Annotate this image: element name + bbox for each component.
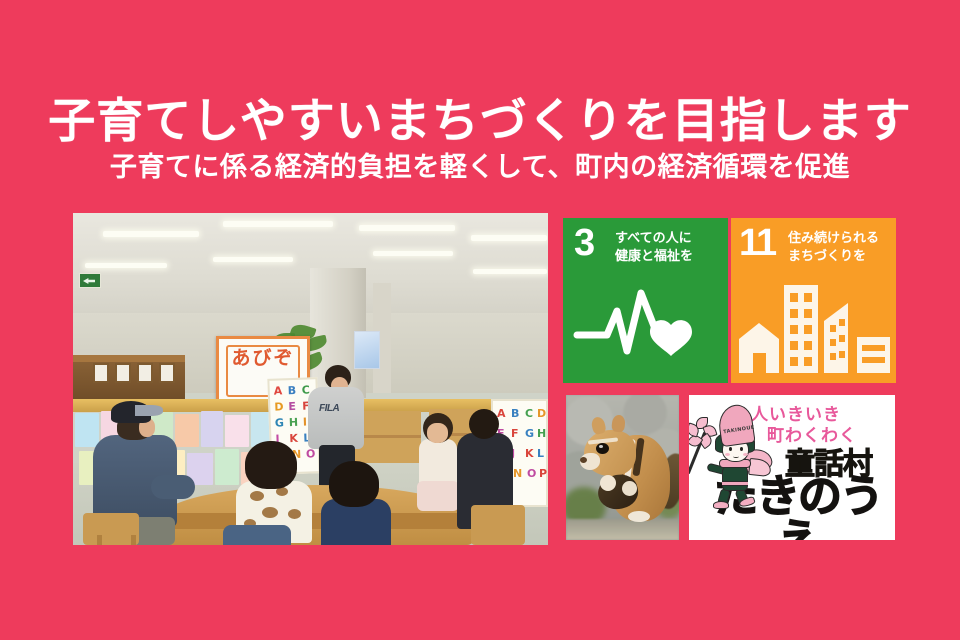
heading-block: 子育てしやすいまちづくりを目指します 子育てに係る経済的負担を軽くして、町内の経… bbox=[0, 96, 960, 183]
chair bbox=[471, 505, 525, 545]
chipmunk-nose bbox=[580, 457, 587, 463]
counter-frame bbox=[159, 363, 175, 383]
counter-frame bbox=[93, 363, 109, 383]
page-subtitle: 子育てに係る経済的負担を軽くして、町内の経済循環を促進 bbox=[0, 153, 960, 183]
mascot-mouth bbox=[733, 455, 739, 458]
wall-poster bbox=[354, 331, 380, 369]
heartbeat-heart-icon bbox=[563, 277, 728, 373]
buildings-city-icon bbox=[731, 277, 896, 373]
chipmunk-paw bbox=[600, 475, 616, 491]
mascot-cheek bbox=[743, 453, 748, 456]
ceiling-light bbox=[103, 231, 199, 237]
mascot-eye bbox=[740, 447, 743, 451]
ceiling-light bbox=[473, 269, 547, 274]
seated-adult-two-head bbox=[469, 409, 499, 439]
sdg-label: 住み続けられる まちづくりを bbox=[788, 230, 879, 265]
ceiling-light bbox=[85, 263, 167, 268]
counter-frame bbox=[115, 363, 131, 383]
child-one-head bbox=[245, 441, 297, 489]
mascot-cheek bbox=[725, 453, 730, 456]
slide-root: 子育てしやすいまちづくりを目指します 子育てに係る経済的負担を軽くして、町内の経… bbox=[0, 0, 960, 640]
counter-top bbox=[73, 355, 185, 362]
mascot-eye bbox=[729, 447, 732, 451]
chipmunk-paw bbox=[622, 481, 637, 496]
gravel-ground bbox=[566, 519, 679, 540]
sdg-label: すべての人に 健康と福祉を bbox=[615, 230, 693, 265]
girl-skirt bbox=[417, 481, 459, 511]
ceiling-light bbox=[223, 221, 333, 227]
mascot-shoe bbox=[713, 501, 729, 509]
mascot-belt bbox=[722, 481, 748, 486]
girl-face bbox=[427, 423, 448, 443]
chipmunk-foot bbox=[628, 511, 650, 522]
exit-sign-icon bbox=[79, 273, 101, 288]
sdg-badge-11: 11 住み続けられる まちづくりを bbox=[731, 218, 896, 383]
counter-frame bbox=[137, 363, 153, 383]
hoodie-brand-label: FILA bbox=[319, 403, 339, 414]
ceiling-light bbox=[213, 257, 293, 262]
cap-brim bbox=[135, 405, 163, 416]
sdg-number: 11 bbox=[739, 224, 775, 262]
takinoue-logo: 人いきいき 町わくわく 童話村 たきのうえ TAKINOUE bbox=[689, 395, 895, 540]
mascot-body bbox=[722, 465, 748, 491]
table-edge bbox=[157, 513, 475, 529]
sdg-number: 3 bbox=[574, 224, 595, 262]
child-one-pants bbox=[223, 525, 291, 545]
library-photo: あびぞ bbox=[73, 213, 548, 545]
child-two-head bbox=[329, 461, 379, 507]
seated-adult-arm bbox=[151, 475, 195, 499]
page-title: 子育てしやすいまちづくりを目指します bbox=[0, 96, 960, 145]
cherry-blossom-icon bbox=[689, 417, 717, 447]
chipmunk-ear bbox=[611, 414, 626, 432]
sign-label: あびぞ bbox=[219, 349, 307, 369]
ceiling-light bbox=[471, 235, 547, 241]
ceiling-light bbox=[373, 251, 453, 256]
chipmunk-photo bbox=[566, 395, 679, 540]
eye-glint bbox=[599, 445, 603, 448]
sdg-badge-3: 3 すべての人に 健康と福祉を bbox=[563, 218, 728, 383]
standing-person-hoodie bbox=[308, 387, 364, 449]
ceiling-light bbox=[359, 225, 455, 231]
